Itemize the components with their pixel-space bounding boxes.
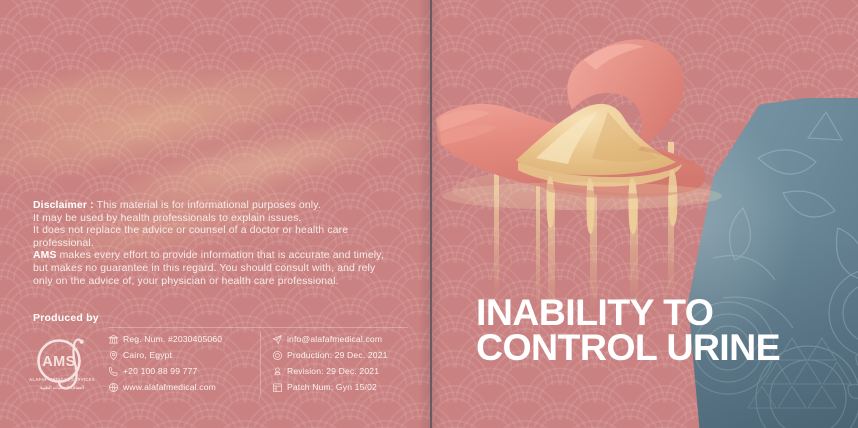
contact-row[interactable]: Revision: 29 Dec. 2021 <box>272 363 388 379</box>
contact-text: info@alafafmedical.com <box>287 334 382 344</box>
contact-row[interactable]: www.alafafmedical.com <box>108 379 222 395</box>
contact-row[interactable]: info@alafafmedical.com <box>272 331 388 347</box>
title-line-2: CONTROL URINE <box>476 330 780 365</box>
disclaimer-line-2: It may be used by health professionals t… <box>33 213 395 226</box>
logo-caption-ar: العفاف للخدمات الطبية <box>22 384 102 391</box>
disclaimer-line-3: It does not replace the advice or counse… <box>33 225 395 250</box>
phone-handset-icon <box>108 365 123 377</box>
contact-row[interactable]: Cairo, Egypt <box>108 347 222 363</box>
target-circle-icon <box>272 349 287 361</box>
disclaimer-label: Disclaimer : <box>33 200 94 211</box>
contact-text: Revision: 29 Dec. 2021 <box>287 366 379 376</box>
logo-caption-en: ALAFAF MEDICAL SERVICES <box>29 377 95 382</box>
logo-caption: ALAFAF MEDICAL SERVICES العفاف للخدمات ا… <box>22 376 102 391</box>
disclaimer-line-1: This material is for informational purpo… <box>94 200 321 211</box>
contact-row[interactable]: +20 100 88 99 777 <box>108 363 222 379</box>
right-page: INABILITY TO CONTROL URINE <box>432 0 858 428</box>
contact-row[interactable]: Reg. Num. #2030405060 <box>108 331 222 347</box>
disclaimer-block: Disclaimer : This material is for inform… <box>33 200 395 288</box>
org-abbreviation: AMS <box>33 250 57 261</box>
contact-text: Patch Num: Gyn 15/02 <box>287 382 377 392</box>
disclaimer-paragraph-2: AMS makes every effort to provide inform… <box>33 250 395 288</box>
produced-by-label: Produced by <box>33 312 99 324</box>
hand-illustration <box>432 0 858 300</box>
center-fold-line <box>430 0 432 428</box>
contact-column-right: info@alafafmedical.com Production: 29 De… <box>272 331 388 395</box>
contact-top-divider <box>108 327 408 328</box>
contact-row[interactable]: Production: 29 Dec. 2021 <box>272 347 388 363</box>
contact-text: Production: 29 Dec. 2021 <box>287 350 388 360</box>
contact-text: +20 100 88 99 777 <box>123 366 197 376</box>
svg-text:AMS: AMS <box>42 354 75 370</box>
disclaimer-paragraph-1: Disclaimer : This material is for inform… <box>33 200 395 213</box>
page-title: INABILITY TO CONTROL URINE <box>476 295 780 365</box>
disclaimer-line-4: makes every effort to provide informatio… <box>33 250 384 286</box>
contact-column-divider <box>260 331 261 395</box>
brochure-spread: Disclaimer : This material is for inform… <box>0 0 858 428</box>
stamp-seal-icon <box>272 365 287 377</box>
contact-column-left: Reg. Num. #2030405060 Cairo, Egypt +20 1… <box>108 331 222 395</box>
contact-text: www.alafafmedical.com <box>123 382 216 392</box>
globe-icon <box>108 381 123 393</box>
location-pin-icon <box>108 349 123 361</box>
bank-building-icon <box>108 333 123 345</box>
paper-plane-icon <box>272 333 287 345</box>
contact-row[interactable]: Patch Num: Gyn 15/02 <box>272 379 388 395</box>
contact-text: Cairo, Egypt <box>123 350 172 360</box>
contact-text: Reg. Num. #2030405060 <box>123 334 222 344</box>
calendar-grid-icon <box>272 381 287 393</box>
